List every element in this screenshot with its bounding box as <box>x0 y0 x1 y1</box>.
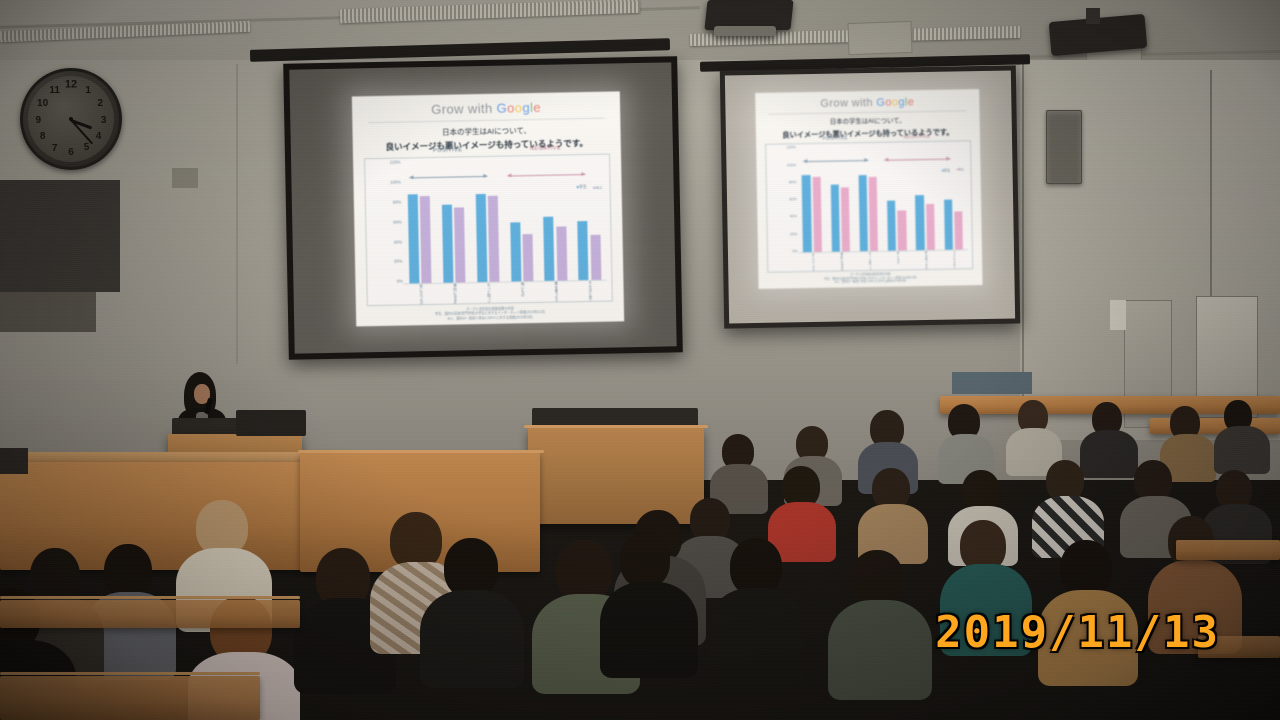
x-label-group: 便利になるもの <box>441 283 468 304</box>
segment-label-negative: NEGATIVE <box>882 133 951 139</box>
x-tick-label: それほど信じられない <box>952 251 956 269</box>
x-tick-label: 怖いもの <box>520 282 524 303</box>
wall-clock: 12 1 2 3 4 5 6 7 8 9 10 11 <box>20 68 122 170</box>
brand-prefix: Grow with <box>820 97 873 110</box>
x-tick-label: 便利になるもの <box>453 283 457 304</box>
stage-object <box>0 448 28 474</box>
student-head <box>444 538 498 598</box>
bar-all <box>926 204 935 252</box>
chart-x-labels: 役に立つもの 便利になるもの もっと知っておくべきもの 怖いもの 職を奪うもの … <box>799 251 969 272</box>
projection-screen-left-frame: Grow with Google 日本の学生はAIについて、 良いイメージも悪い… <box>283 56 683 360</box>
bar-group <box>574 166 603 280</box>
desk-row <box>1176 540 1280 560</box>
x-label-group: それほど信じられない <box>577 280 604 301</box>
desk-edge <box>0 596 300 599</box>
projector-mount-arm <box>1086 8 1100 24</box>
chart-y-axis: 120% 100% 80% 60% 40% 20% 0% <box>767 147 799 254</box>
x-tick-label: 怖いもの <box>896 252 900 270</box>
student-head <box>620 532 670 588</box>
clock-numeral: 1 <box>85 86 91 96</box>
x-tick-label: 便利になるもの <box>839 253 843 271</box>
bar-all <box>841 188 850 253</box>
wall-dark-panel <box>0 292 96 332</box>
clock-numeral: 10 <box>37 99 48 109</box>
bar-all <box>812 177 822 253</box>
bar-students <box>858 175 868 252</box>
bar-group <box>473 168 502 282</box>
x-label-group: 職を奪うもの <box>915 251 937 269</box>
bar-group <box>507 168 536 282</box>
x-tick-label: もっと知っておくべきもの <box>867 252 871 270</box>
lecture-hall-photo: 12 1 2 3 4 5 6 7 8 9 10 11 Grow with G <box>0 0 1280 720</box>
student-body <box>600 582 698 678</box>
brand-letter-e: e <box>908 96 915 108</box>
brand-letter-g: G <box>496 101 507 116</box>
x-tick-label: 職を奪うもの <box>554 281 558 302</box>
wall-dark-panel <box>0 180 120 292</box>
lectern-equipment <box>236 410 306 436</box>
chart-plot-area <box>797 152 968 254</box>
clock-numeral: 5 <box>84 143 90 153</box>
slide-divider <box>368 118 604 124</box>
desk-row <box>0 600 300 628</box>
x-tick-label: 役に立つもの <box>419 284 423 305</box>
lectern-edge <box>524 425 708 428</box>
x-label-group: 役に立つもの <box>802 253 824 271</box>
segment-label-positive: POSITIVE <box>406 147 489 155</box>
clock-face: 12 1 2 3 4 5 6 7 8 9 10 11 <box>28 76 114 162</box>
clock-center-pin <box>69 117 73 121</box>
bar-students <box>578 221 589 280</box>
student-head <box>556 540 612 602</box>
x-tick-label: それほど信じられない <box>588 281 592 302</box>
projection-screen-right: Grow with Google 日本の学生はAIについて、 良いイメージも悪い… <box>725 71 1015 324</box>
bar-students <box>915 195 924 251</box>
clock-numeral: 3 <box>101 116 107 126</box>
bar-students <box>802 175 812 253</box>
x-label-group: もっと知っておくべきもの <box>858 252 880 270</box>
slide-divider <box>769 110 966 114</box>
bar-group <box>405 170 434 284</box>
brand-letter-e: e <box>533 100 541 115</box>
chart-y-axis: 120% 100% 80% 60% 40% 20% 0% <box>366 161 405 285</box>
wall-seam <box>236 64 238 364</box>
chart-x-labels: 役に立つもの 便利になるもの もっと知っておくべきもの 怖いもの 職を奪うもの … <box>404 280 607 304</box>
x-tick-label: 職を奪うもの <box>924 251 928 269</box>
chart-container: 120% 100% 80% 60% 40% 20% 0% POSITIVE NE… <box>364 154 613 307</box>
student-body <box>708 588 806 684</box>
bar-all <box>869 177 879 252</box>
bar-group <box>828 154 852 253</box>
y-tick: 120% <box>786 147 797 151</box>
slide-right: Grow with Google 日本の学生はAIについて、 良いイメージも悪い… <box>755 89 982 289</box>
bar-group <box>439 169 468 283</box>
bar-group <box>913 152 937 251</box>
bar-group <box>541 167 570 281</box>
clock-numeral: 4 <box>96 132 102 142</box>
camera-date-stamp: 2019/11/13 <box>935 607 1220 658</box>
bar-students <box>510 223 521 282</box>
brand-prefix: Grow with <box>431 101 493 117</box>
clock-numeral: 2 <box>97 99 103 109</box>
x-label-group: 怖いもの <box>509 282 536 303</box>
bar-group <box>941 152 965 251</box>
bar-students <box>408 194 420 284</box>
bar-groups <box>402 166 607 284</box>
x-tick-label: もっと知っておくべきもの <box>486 282 490 303</box>
x-label-group: もっと知っておくべきもの <box>475 282 502 303</box>
bar-groups <box>797 152 968 254</box>
bar-students <box>442 205 454 284</box>
chart-plot-area <box>402 166 607 284</box>
slide-left: Grow with Google 日本の学生はAIについて、 良いイメージも悪い… <box>352 91 624 326</box>
clock-numeral: 9 <box>36 116 42 126</box>
y-tick: 120% <box>390 161 403 165</box>
ceiling-tile <box>847 21 912 55</box>
bar-students <box>944 200 953 252</box>
segment-label-negative: NEGATIVE <box>504 145 587 153</box>
bar-all <box>898 210 907 252</box>
clock-numeral: 12 <box>65 80 77 91</box>
bar-all <box>954 211 963 251</box>
clock-numeral: 11 <box>49 86 60 96</box>
clock-numeral: 8 <box>40 132 46 142</box>
projection-screen-left: Grow with Google 日本の学生はAIについて、 良いイメージも悪い… <box>289 62 676 353</box>
bar-students <box>887 201 896 253</box>
x-tick-label: 役に立つもの <box>811 253 815 271</box>
x-label-group: 役に立つもの <box>408 284 435 305</box>
bar-group <box>856 153 880 252</box>
bar-students <box>475 194 487 283</box>
stored-equipment <box>952 372 1032 394</box>
desk-edge <box>298 450 544 453</box>
bar-all <box>590 235 601 281</box>
student-body <box>828 600 932 700</box>
bar-all <box>522 234 533 282</box>
x-label-group: 便利になるもの <box>830 253 852 271</box>
wall-speaker <box>1046 110 1082 184</box>
wall-plate <box>172 168 198 188</box>
x-label-group: それほど信じられない <box>943 251 965 269</box>
x-label-group: 職を奪うもの <box>543 281 570 302</box>
grow-with-google-logo: Grow with Google <box>352 98 620 118</box>
desk-row <box>0 676 260 720</box>
projector-lens-housing <box>714 26 776 36</box>
clock-numeral: 6 <box>68 148 74 158</box>
bar-students <box>544 216 555 281</box>
bar-all <box>454 208 465 283</box>
bar-all <box>556 226 567 281</box>
bar-group <box>800 154 824 253</box>
grow-with-google-logo: Grow with Google <box>755 95 979 111</box>
student-head <box>104 544 152 598</box>
bar-students <box>830 185 840 253</box>
projection-screen-right-frame: Grow with Google 日本の学生はAIについて、 良いイメージも悪い… <box>720 65 1020 328</box>
student-body <box>420 590 524 688</box>
bar-all <box>420 196 432 284</box>
x-label-group: 怖いもの <box>886 252 908 270</box>
clock-numeral: 7 <box>52 144 58 154</box>
chart-container: 120% 100% 80% 60% 40% 20% 0% POSITIVE NE… <box>765 141 973 273</box>
segment-label-positive: POSITIVE <box>801 135 870 141</box>
bar-group <box>885 153 909 252</box>
desk-edge <box>0 672 260 675</box>
wall-switch-panel <box>1110 300 1126 330</box>
bar-all <box>488 196 500 283</box>
brand-letter-g: G <box>876 97 885 109</box>
